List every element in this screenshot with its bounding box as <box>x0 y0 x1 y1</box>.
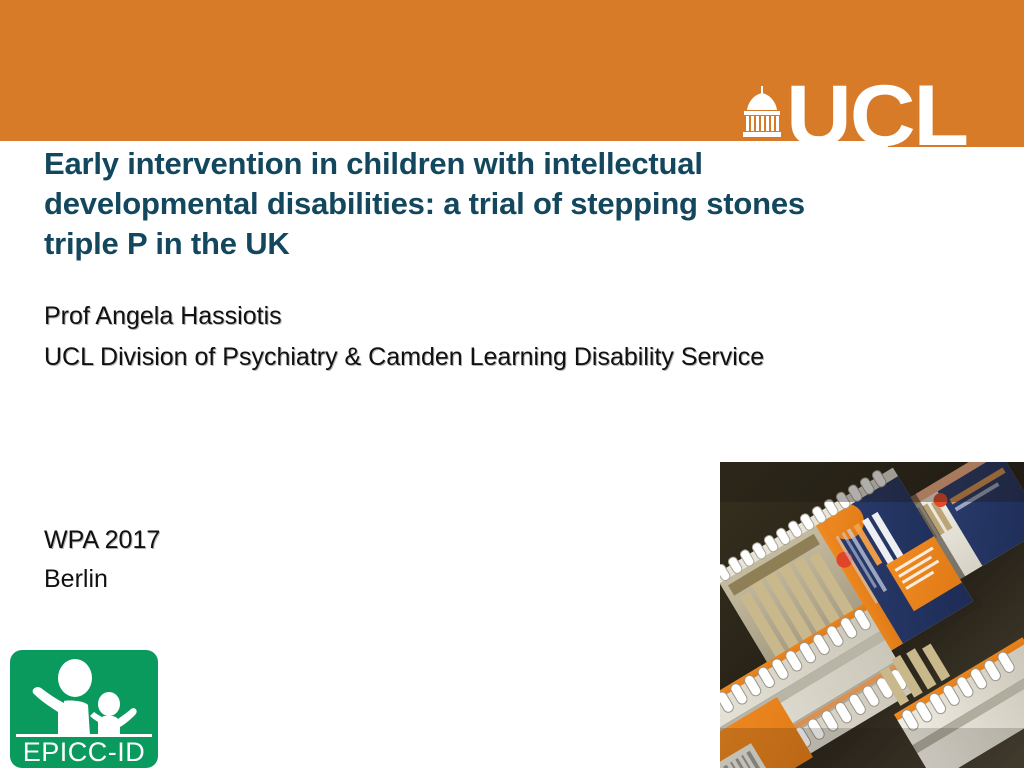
conference-event: WPA 2017 <box>44 521 544 560</box>
author-name: Prof Angela Hassiotis <box>44 296 944 337</box>
presentation-slide: UCL Early intervention in children with … <box>0 0 1024 768</box>
page-title-line-1: Early intervention in children with inte… <box>44 144 934 184</box>
ucl-wordmark: UCL <box>786 83 967 150</box>
adult-and-child-figures-icon <box>10 650 158 736</box>
author-block: Prof Angela Hassiotis UCL Division of Ps… <box>44 296 944 378</box>
conference-block: WPA 2017 Berlin <box>44 521 544 599</box>
page-title-line-3: triple P in the UK <box>44 224 934 264</box>
epicc-id-label: EPICC-ID <box>10 736 158 768</box>
conference-city: Berlin <box>44 560 544 599</box>
page-title-line-2: developmental disabilities: a trial of s… <box>44 184 934 224</box>
page-title: Early intervention in children with inte… <box>44 144 934 264</box>
author-affiliation: UCL Division of Psychiatry & Camden Lear… <box>44 337 944 378</box>
conference-programme-photo-image <box>720 462 1024 768</box>
ucl-logo: UCL <box>742 72 990 150</box>
epicc-id-logo: EPICC-ID <box>10 650 158 768</box>
ucl-portico-dome-icon <box>742 86 782 138</box>
conference-programme-photo <box>720 462 1024 768</box>
